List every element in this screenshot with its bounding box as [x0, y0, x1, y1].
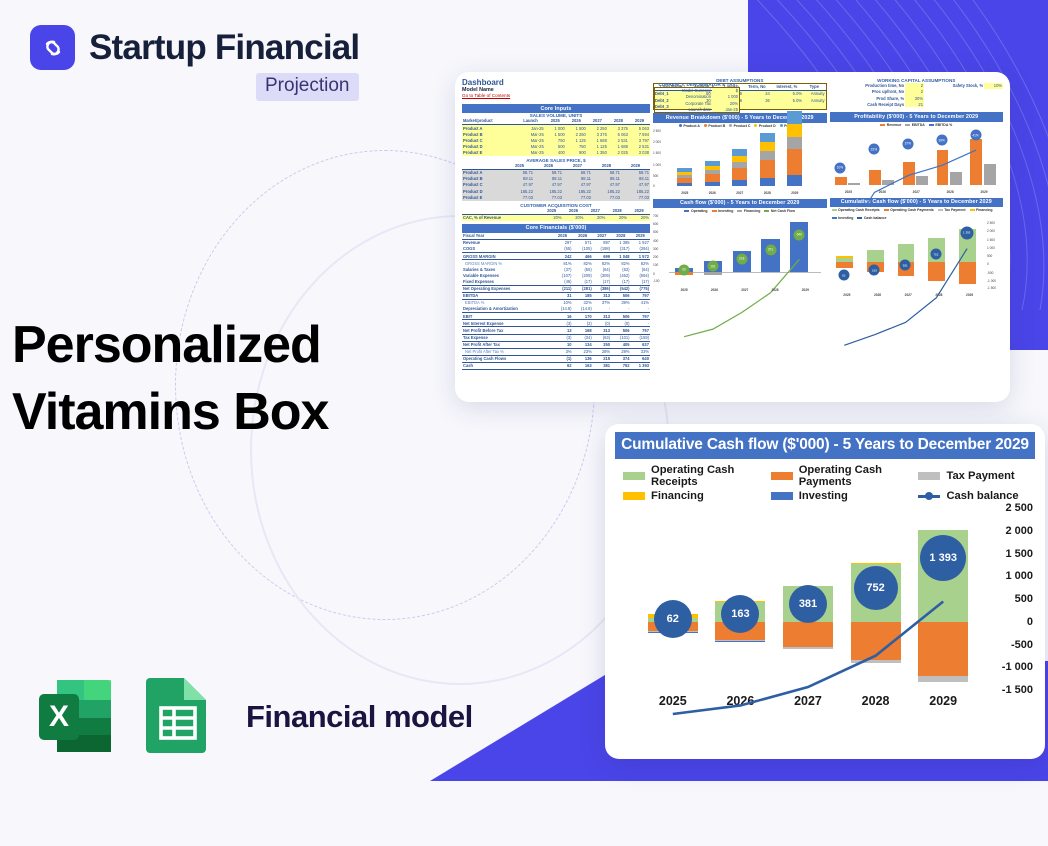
- legend-label: Operating: [691, 209, 708, 213]
- table-row: CAC, % of Revenue20%20%20%20%20%: [462, 214, 650, 221]
- legend-item: Investing: [771, 490, 913, 502]
- cell: (2): [573, 320, 593, 327]
- data-label: 101: [707, 261, 718, 272]
- cell: 313: [593, 292, 611, 299]
- format-label: Financial model: [246, 699, 473, 735]
- legend-item: Tax Payment: [938, 208, 966, 212]
- cell: $: [712, 88, 740, 95]
- cell: 297: [552, 240, 572, 247]
- table-row: Tax Expense(3)(34)(63)(101)(159): [462, 334, 650, 341]
- row-label: Product A: [462, 169, 505, 176]
- row-label: Operating Cash Flows: [462, 355, 552, 362]
- data-label: 381: [900, 260, 911, 271]
- data-label: 62: [679, 264, 690, 275]
- col-blank: [462, 208, 541, 215]
- cell: (17): [631, 279, 650, 286]
- x-tick: 2026: [874, 293, 881, 297]
- cell: (775): [631, 285, 650, 292]
- row-label: Net Interest Expense: [462, 320, 552, 327]
- dashboard-title: Dashboard: [462, 78, 650, 87]
- microsoft-excel-icon: X: [33, 674, 118, 759]
- legend-label: Financing: [744, 209, 761, 213]
- cell: 58.71: [563, 169, 592, 176]
- cell: [771, 103, 803, 110]
- col-year-2: 2027: [587, 118, 608, 125]
- cell: 637: [631, 341, 650, 348]
- poster-stage: Startup Financial Projection Personalize…: [0, 0, 1048, 781]
- cell: (317): [611, 246, 630, 253]
- table-row: Net Interest Expense(3)(2)(0)(0)-: [462, 320, 650, 327]
- cell: (17): [573, 279, 593, 286]
- cell: 3%: [552, 348, 572, 355]
- cell: 62: [552, 362, 572, 369]
- cell: 32%: [573, 300, 593, 307]
- data-label: 371: [765, 244, 776, 255]
- x-tick: 2025: [843, 293, 850, 297]
- cell: (17): [593, 279, 611, 286]
- x-tick: 2028: [935, 293, 942, 297]
- cell: 506: [611, 313, 630, 320]
- bar: [760, 133, 775, 186]
- cell: 2 250: [587, 125, 608, 132]
- table-header-row: 2025 2026 2027 2028 2029: [462, 163, 650, 170]
- cell: 77.03: [621, 194, 650, 200]
- profitability-chart[interactable]: Revenue EBITDA EBITDA %: [830, 122, 1004, 194]
- cell: 797: [631, 313, 650, 320]
- col-year-1: 2026: [573, 233, 593, 240]
- bar: [787, 111, 802, 186]
- table-row: EBITDA %10%32%37%39%41%: [462, 300, 650, 307]
- row-label: EBITDA %: [462, 300, 552, 307]
- legend-item: Revenue: [880, 123, 901, 127]
- cell: 2 025: [608, 150, 629, 156]
- col-year-2: 2027: [584, 208, 606, 215]
- cell: 77.03: [534, 194, 563, 200]
- cell: 1 500: [566, 125, 587, 132]
- cell: 3 038: [629, 150, 650, 156]
- cell: -: [611, 306, 630, 313]
- cell: 405: [611, 341, 630, 348]
- page-title-line-2: Vitamins Box: [12, 379, 328, 446]
- avg-price-table: 2025 2026 2027 2028 2029 Product A58.715…: [462, 163, 650, 201]
- core-financials-table: Fiscal Year 2025 2026 2027 2028 2029 Rev…: [462, 233, 650, 370]
- row-label: Tax Expense: [462, 334, 552, 341]
- cell: [803, 103, 826, 110]
- cell-launch: Jan-25: [516, 125, 544, 132]
- col-interest: Interest, %: [771, 84, 803, 91]
- col-year-3: 2028: [592, 163, 621, 170]
- row-label: EBIT: [462, 313, 552, 320]
- cash-balance-line: [639, 508, 977, 846]
- cell: (386): [593, 285, 611, 292]
- cell: (105): [573, 246, 593, 253]
- col-year-4: 2029: [631, 233, 650, 240]
- table-header-row: Fiscal Year 2025 2026 2027 2028 2029: [462, 233, 650, 240]
- cell: 250: [593, 341, 611, 348]
- col-term: Term, No: [743, 84, 771, 91]
- data-label: 41%: [970, 130, 981, 141]
- cash-flow-chart[interactable]: Operating Investing Financing Net Cash F…: [653, 208, 827, 292]
- legend-label: Financing: [976, 208, 993, 212]
- cell: 5 063: [629, 125, 650, 132]
- cell: 215: [593, 355, 611, 362]
- legend-label: Operating Cash Receipts: [651, 464, 765, 488]
- cell: (394): [631, 246, 650, 253]
- cell: 163: [573, 362, 593, 369]
- legend-item: Investing: [712, 209, 734, 213]
- profitability-band: Profitability ($'000) - 5 Years to Decem…: [830, 112, 1004, 121]
- cell: 1 395: [611, 240, 630, 247]
- row-label: Fixed Expenses: [462, 279, 552, 286]
- x-tick: 2029: [791, 191, 798, 195]
- cell: 28%: [593, 348, 611, 355]
- cell: 466: [573, 253, 593, 260]
- row-label: CAC, % of Revenue: [462, 214, 541, 221]
- col-year-0: 2025: [541, 208, 563, 215]
- data-label: 752: [930, 249, 941, 260]
- legend-label: EBITDA %: [935, 123, 952, 127]
- x-tick: 2029: [966, 293, 973, 297]
- data-label: 640: [794, 229, 805, 240]
- cell: 24: [743, 91, 771, 98]
- e-loop-icon: [38, 33, 68, 63]
- cell: (14.8): [552, 306, 572, 313]
- dashboard-preview-card[interactable]: Dashboard Model Name Go to Table of Cont…: [455, 72, 1010, 402]
- cell: 58.71: [505, 169, 534, 176]
- cell: 1 048: [611, 253, 630, 260]
- col-year-4: 2029: [628, 208, 650, 215]
- brand-logo: Startup Financial: [30, 25, 359, 70]
- bar: [732, 149, 747, 186]
- cell: (3): [552, 334, 572, 341]
- page-title-line-1: Personalized: [12, 312, 328, 379]
- row-label: Model Currency: [655, 88, 712, 95]
- col-year-2: 2027: [563, 163, 592, 170]
- legend-label: Investing: [838, 216, 853, 220]
- cell: 20%: [628, 214, 650, 221]
- cell: 752: [611, 362, 630, 369]
- bar: [677, 168, 692, 186]
- cell: 39%: [611, 300, 630, 307]
- col-blank: [462, 163, 505, 170]
- data-label: 32%: [868, 144, 879, 155]
- cell: -: [631, 306, 650, 313]
- table-header-row: 2025 2026 2027 2028 2029: [462, 208, 650, 215]
- cell: 381: [593, 362, 611, 369]
- cell: (63): [593, 334, 611, 341]
- x-tick: 2028: [947, 190, 954, 194]
- col-fiscal-year: Fiscal Year: [462, 233, 552, 240]
- row-label: Product E: [462, 150, 516, 156]
- chart-legend: Operating Cash Receipts Operating Cash P…: [830, 207, 1004, 221]
- cell: (3): [552, 320, 572, 327]
- dashboard-right-column: WORKING CAPITAL ASSUMPTIONS Production t…: [830, 78, 1004, 396]
- table-header-row: Market/product Launch 2025 2026 2027 202…: [462, 118, 650, 125]
- table-row: Product AJan-251 0001 5002 2503 3755 063: [462, 125, 650, 132]
- table-row: GROSS MARGIN %81%82%82%82%82%: [462, 260, 650, 267]
- cell: 506: [611, 292, 630, 299]
- legend-item: Cash balance: [857, 216, 886, 220]
- cell: 313: [593, 313, 611, 320]
- table-row: Net Profit After Tax %3%23%28%29%33%: [462, 348, 650, 355]
- row-label: Depreciation & Amortization: [462, 306, 552, 313]
- legend-item: Operating Cash Receipts: [832, 208, 880, 212]
- cell: (1): [552, 355, 572, 362]
- legend-item: Financing: [737, 209, 760, 213]
- cell: Jan-25: [712, 106, 740, 113]
- cell: 82%: [573, 260, 593, 267]
- cell: (211): [552, 285, 572, 292]
- table-row: Fixed Expenses(46)(17)(17)(17)(17): [462, 279, 650, 286]
- cac-table: 2025 2026 2027 2028 2029 CAC, % of Reven…: [462, 208, 650, 221]
- cell: (101): [611, 334, 630, 341]
- legend-item: Net Cash Flow: [764, 209, 795, 213]
- cell: 20%: [606, 214, 628, 221]
- cell: 1 927: [631, 240, 650, 247]
- cell: 374: [611, 355, 630, 362]
- table-row: Net Profit After Tax10134250405637: [462, 341, 650, 348]
- col-year-1: 2026: [534, 163, 563, 170]
- google-sheets-icon: [138, 674, 218, 759]
- x-tick: 2027: [736, 191, 743, 195]
- cell: 77.03: [505, 194, 534, 200]
- cash-flow-band: Cash flow ($'000) - 5 Years to December …: [653, 199, 827, 208]
- cell: 82%: [593, 260, 611, 267]
- col-year-0: 2025: [552, 233, 572, 240]
- dashboard-left-column: Dashboard Model Name Go to Table of Cont…: [462, 78, 650, 396]
- legend-label: Operating Cash Payments: [890, 208, 934, 212]
- legend-item: EBITDA %: [929, 123, 952, 127]
- data-label: 1 393: [960, 226, 973, 239]
- cell: (14.8): [573, 306, 593, 313]
- cell: 136: [573, 355, 593, 362]
- x-tick: 2027: [913, 190, 920, 194]
- cell: 400: [545, 150, 566, 156]
- col-type: Type: [803, 84, 826, 91]
- x-tick: 2029: [802, 288, 809, 292]
- legend-label: Product C: [734, 124, 751, 128]
- cell: 900: [566, 150, 587, 156]
- legend-item: EBITDA: [905, 123, 925, 127]
- legend-label: Financing: [651, 490, 704, 502]
- row-label: Net Operating Expenses: [462, 285, 552, 292]
- revenue-breakdown-chart[interactable]: Product A Product B Product C Product D …: [653, 123, 827, 195]
- legend-label: Cash balance: [864, 216, 887, 220]
- data-label: 218: [736, 253, 747, 264]
- x-tick: 2026: [711, 288, 718, 292]
- currency-box-table: Model Currency$ Denomination1 000 Corpor…: [654, 87, 740, 113]
- cell: (34): [573, 334, 593, 341]
- cell: 58.71: [621, 169, 650, 176]
- table-row: Cash Receipt Days21: [830, 101, 1004, 107]
- y-tick: -1 000: [1002, 661, 1033, 673]
- cell: 506: [611, 327, 630, 334]
- col-year-0: 2025: [545, 118, 566, 125]
- cell: 20%: [541, 214, 563, 221]
- currency-box-title: CURRENCY, DENOMINATOR & TAX: [654, 82, 740, 87]
- brand-badge: Projection: [256, 73, 359, 101]
- legend-item: Operating: [684, 209, 707, 213]
- cell: 23%: [573, 348, 593, 355]
- table-row: Net Profit Before Tax13168313506797: [462, 327, 650, 334]
- table-row: Product EMar-254009001 3502 0253 038: [462, 150, 650, 156]
- cell: 242: [552, 253, 572, 260]
- legend-item: Investing: [832, 216, 854, 220]
- format-badges: X Financial model: [33, 674, 473, 759]
- col-year-0: 2025: [505, 163, 534, 170]
- legend-label: Cash balance: [946, 490, 1018, 502]
- cell: 134: [573, 341, 593, 348]
- cell: (55): [552, 246, 572, 253]
- legend-item: Product B: [704, 124, 725, 128]
- cell: Annuity: [803, 91, 826, 98]
- cell: 13: [552, 327, 572, 334]
- x-tick: 2028: [764, 191, 771, 195]
- data-label: 10%: [834, 162, 845, 173]
- legend-item: Operating Cash Payments: [884, 208, 934, 212]
- cumulative-cash-flow-chart-mini[interactable]: Operating Cash Receipts Operating Cash P…: [830, 207, 1004, 297]
- cell: 37%: [593, 300, 611, 307]
- cell: (281): [573, 285, 593, 292]
- brand-name: Startup Financial: [89, 28, 359, 68]
- x-tick: 2027: [741, 288, 748, 292]
- cell: 33%: [631, 348, 650, 355]
- table-row: Launch dateJan-25: [655, 106, 740, 113]
- cell: 1 393: [631, 362, 650, 369]
- chart-title: Cumulative Cash flow ($'000) - 5 Years t…: [615, 432, 1035, 459]
- dashboard-middle-column: DEBT ASSUMPTIONS Loan Name Amount, $ Lau…: [653, 78, 827, 396]
- cell: 21: [905, 101, 924, 107]
- cell: 640: [631, 355, 650, 362]
- col-market-product: Market/product: [462, 118, 516, 125]
- legend-label: Net Cash Flow: [771, 209, 795, 213]
- cell: 571: [573, 240, 593, 247]
- col-year-4: 2029: [629, 118, 650, 125]
- legend-item: Financing: [623, 490, 765, 502]
- cell: 1 572: [631, 253, 650, 260]
- legend-item: Product A: [679, 124, 700, 128]
- table-row: Cash621633817521 393: [462, 362, 650, 369]
- col-year-3: 2028: [608, 118, 629, 125]
- brand-mark-icon: [30, 25, 75, 70]
- cell: (17): [611, 279, 630, 286]
- col-launch: Launch: [516, 118, 544, 125]
- chart-legend: Operating Cash Receipts Operating Cash P…: [615, 459, 1035, 504]
- legend-item: Product C: [729, 124, 750, 128]
- legend-item: Operating Cash Payments: [771, 464, 913, 488]
- y-tick: 2 000: [1005, 525, 1033, 537]
- table-of-contents-link[interactable]: Go to Table of Contents: [462, 93, 650, 98]
- x-tick: 2026: [879, 190, 886, 194]
- row-label: Product E: [462, 194, 505, 200]
- x-tick: 2025: [845, 190, 852, 194]
- cell: 20%: [584, 214, 606, 221]
- y-tick: -1 500: [1002, 684, 1033, 696]
- cell-launch: Mar-25: [516, 150, 544, 156]
- svg-text:X: X: [49, 700, 69, 733]
- cell: 1 000: [545, 125, 566, 132]
- cell: 82%: [631, 260, 650, 267]
- x-tick: 2025: [681, 191, 688, 195]
- cell: 29%: [611, 348, 630, 355]
- data-label: 37%: [902, 138, 913, 149]
- sales-volume-table: Market/product Launch 2025 2026 2027 202…: [462, 118, 650, 156]
- cell: 20%: [563, 214, 585, 221]
- legend-label: Product D: [759, 124, 776, 128]
- cell: 58.71: [592, 169, 621, 176]
- row-label: Net Profit Before Tax: [462, 327, 552, 334]
- legend-label: EBITDA: [912, 123, 925, 127]
- cell: 82%: [611, 260, 630, 267]
- y-tick: 2 500: [1005, 502, 1033, 514]
- legend-label: Tax Payment: [944, 208, 965, 212]
- table-row: Revenue2975718971 3951 927: [462, 240, 650, 247]
- col-year-1: 2026: [563, 208, 585, 215]
- cell: 3 375: [608, 125, 629, 132]
- cell: 897: [593, 240, 611, 247]
- page-title: Personalized Vitamins Box: [12, 312, 328, 445]
- row-label: GROSS MARGIN: [462, 253, 552, 260]
- table-row: Model Currency$: [655, 88, 740, 95]
- core-financials-body: Revenue2975718971 3951 927COGS(55)(105)(…: [462, 240, 650, 370]
- bar: [705, 161, 720, 186]
- data-label: 163: [869, 265, 880, 276]
- table-row: EBIT16170313506797: [462, 313, 650, 320]
- legend-item: Cash balance: [918, 490, 1029, 502]
- row-label: EBITDA: [462, 292, 552, 299]
- cell: 41%: [631, 300, 650, 307]
- cell: 81%: [552, 260, 572, 267]
- cell: 1 350: [587, 150, 608, 156]
- cell: (0): [611, 320, 630, 327]
- row-label: COGS: [462, 246, 552, 253]
- table-row: Depreciation & Amortization(14.8)(14.8)-…: [462, 306, 650, 313]
- col-year-2: 2027: [593, 233, 611, 240]
- core-inputs-band: Core Inputs: [462, 104, 650, 113]
- x-tick: 2029: [980, 190, 987, 194]
- row-label: Launch date: [655, 106, 712, 113]
- cumulative-cash-flow-card[interactable]: Cumulative Cash flow ($'000) - 5 Years t…: [605, 424, 1045, 759]
- row-label: Net Profit After Tax: [462, 341, 552, 348]
- row-label: GROSS MARGIN %: [462, 260, 552, 267]
- legend-label: Operating Cash Payments: [799, 464, 913, 488]
- cell: (159): [631, 334, 650, 341]
- cell: 797: [631, 327, 650, 334]
- x-tick: 2026: [709, 191, 716, 195]
- col-year-3: 2028: [606, 208, 628, 215]
- cell: 5.0%: [771, 91, 803, 98]
- legend-label: Revenue: [887, 123, 902, 127]
- cell: (46): [552, 279, 572, 286]
- cell: (198): [593, 246, 611, 253]
- y-tick: 1 000: [1005, 570, 1033, 582]
- working-capital-table: Production time, No2Safety Stock, %10% P…: [830, 83, 1004, 107]
- col-year-3: 2028: [611, 233, 630, 240]
- currency-box: CURRENCY, DENOMINATOR & TAX Model Curren…: [654, 82, 740, 113]
- cell: 185: [573, 292, 593, 299]
- y-tick: 500: [1015, 593, 1033, 605]
- row-label: Cash: [462, 362, 552, 369]
- y-axis: 2 5002 0001 5001 0005000-500-1 000-1 500: [981, 508, 1035, 690]
- row-label: Product A: [462, 125, 516, 132]
- cell: (0): [593, 320, 611, 327]
- y-tick: -500: [1011, 639, 1033, 651]
- row-label: Net Profit After Tax %: [462, 348, 552, 355]
- table-row: EBITDA31185313506797: [462, 292, 650, 299]
- y-tick: 0: [1027, 616, 1033, 628]
- legend-label: Product A: [683, 124, 700, 128]
- table-row: GROSS MARGIN2424666991 0481 572: [462, 253, 650, 260]
